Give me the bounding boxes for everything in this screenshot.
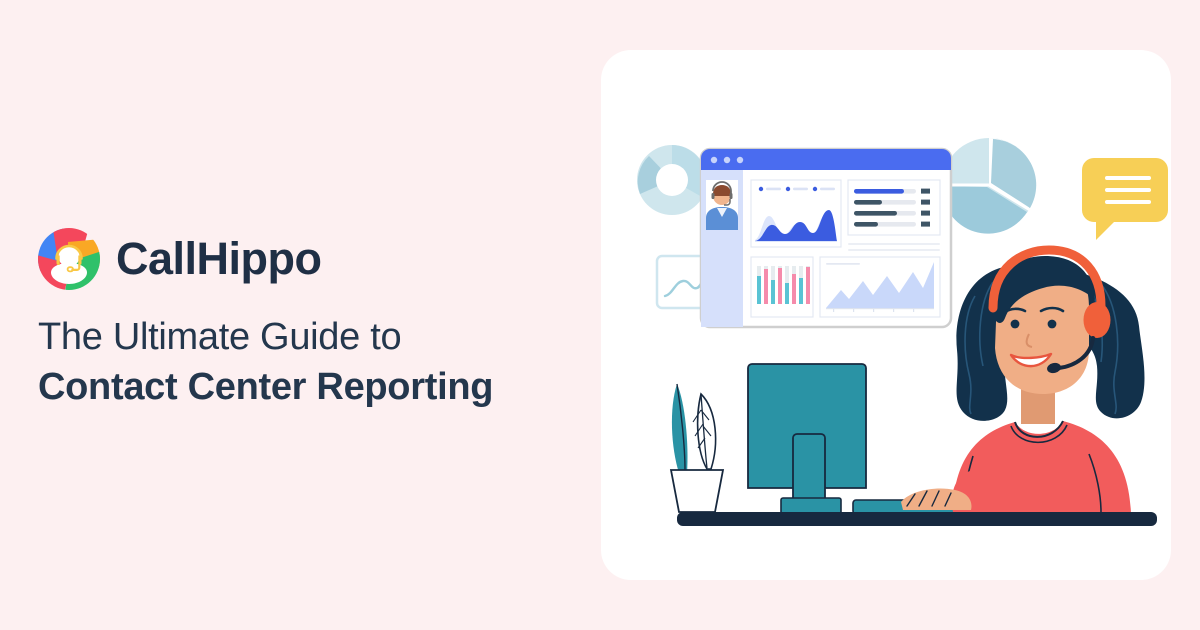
contact-center-illustration [601, 50, 1171, 580]
left-content-panel: CallHippo The Ultimate Guide to Contact … [0, 0, 600, 630]
volume-bar-chart [751, 257, 813, 317]
desk-surface [677, 512, 1157, 526]
agent-avatar-with-headset [706, 180, 738, 230]
illustration-card [601, 50, 1171, 580]
window-dot [724, 157, 730, 163]
callhippo-logo-icon [38, 228, 100, 290]
page-title: The Ultimate Guide to Contact Center Rep… [38, 312, 578, 412]
calls-area-chart [751, 180, 841, 247]
dashboard-window [701, 149, 951, 327]
window-dot [711, 157, 717, 163]
headline-line-2: Contact Center Reporting [38, 362, 578, 412]
trend-area-chart [820, 257, 940, 317]
brand-name: CallHippo [116, 233, 322, 285]
headline-line-1: The Ultimate Guide to [38, 312, 578, 362]
desk-plant [671, 384, 723, 512]
pie-chart-decoration [942, 138, 1036, 234]
window-dot [737, 157, 743, 163]
donut-chart-decoration [637, 145, 707, 215]
page-root: CallHippo The Ultimate Guide to Contact … [0, 0, 1200, 630]
chat-bubble-icon [1082, 158, 1168, 240]
brand-lockup: CallHippo [38, 228, 322, 290]
desktop-monitor [748, 364, 866, 514]
